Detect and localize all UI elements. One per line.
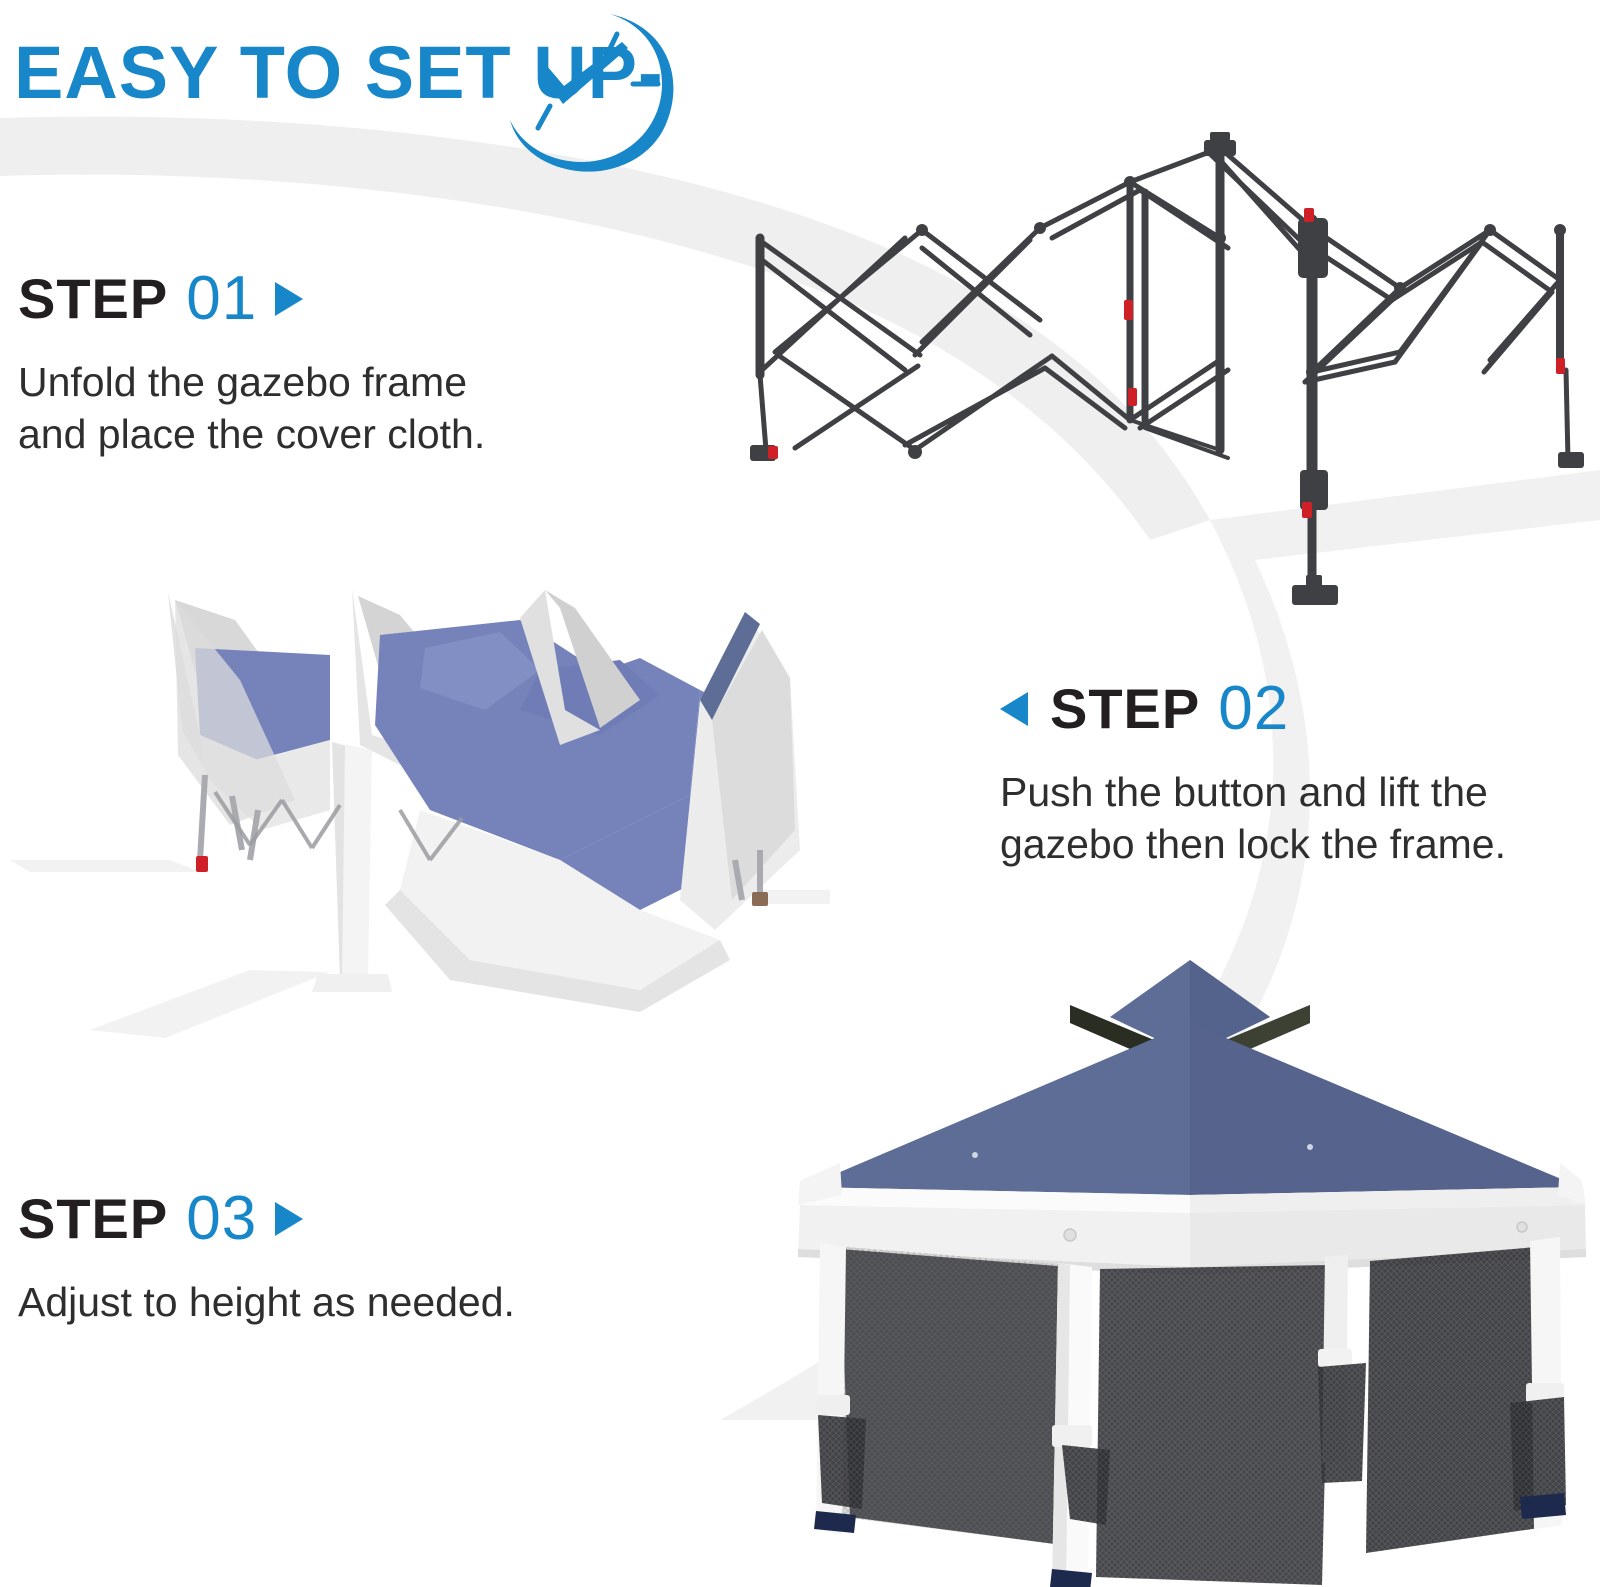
step-02-heading: STEP 02 bbox=[1000, 678, 1600, 740]
triangle-left-icon bbox=[1000, 692, 1028, 726]
triangle-right-icon bbox=[275, 1202, 303, 1236]
step-03-label: STEP bbox=[18, 1191, 168, 1247]
step-03-description: Adjust to height as needed. bbox=[18, 1276, 618, 1328]
step-02-label: STEP bbox=[1050, 681, 1200, 737]
step-01-number: 01 bbox=[186, 268, 257, 330]
step-02-block: STEP 02 Push the button and lift the gaz… bbox=[1000, 678, 1600, 871]
step-01-heading: STEP 01 bbox=[18, 268, 578, 330]
step-01-description: Unfold the gazebo frame and place the co… bbox=[18, 356, 578, 461]
step-02-number: 02 bbox=[1218, 678, 1289, 740]
gazebo-assembled-illustration bbox=[770, 905, 1600, 1587]
step-02-description: Push the button and lift the gazebo then… bbox=[1000, 766, 1600, 871]
gazebo-cloth-illustration bbox=[0, 560, 830, 1060]
step-03-number: 03 bbox=[186, 1188, 257, 1250]
step-01-block: STEP 01 Unfold the gazebo frame and plac… bbox=[18, 268, 578, 461]
gazebo-frame-illustration bbox=[700, 120, 1600, 640]
step-03-heading: STEP 03 bbox=[18, 1188, 618, 1250]
clock-swoosh-icon bbox=[500, 0, 690, 180]
instruction-poster: EASY TO SET UP- STEP 01 Unfold the gazeb… bbox=[0, 0, 1600, 1587]
triangle-right-icon bbox=[275, 282, 303, 316]
step-03-block: STEP 03 Adjust to height as needed. bbox=[18, 1188, 618, 1328]
step-01-label: STEP bbox=[18, 271, 168, 327]
